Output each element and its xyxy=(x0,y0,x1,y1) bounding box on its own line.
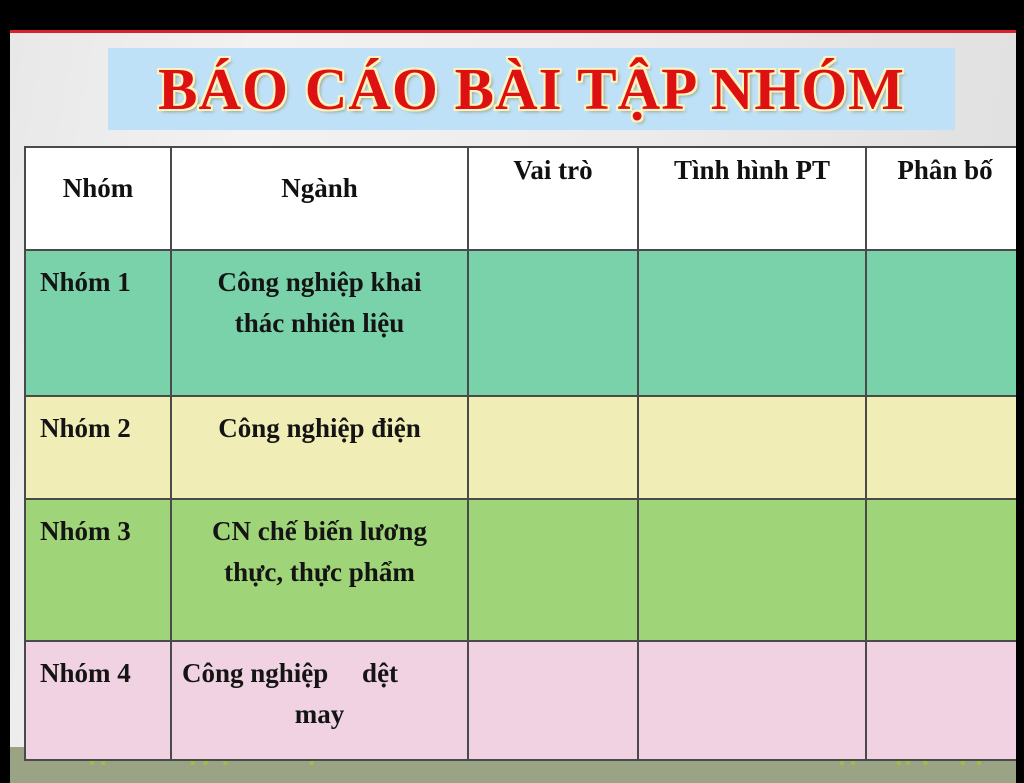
cell-vai-tro[interactable] xyxy=(468,396,638,499)
industry-line-1: CN chế biến lương xyxy=(212,516,427,546)
development-value xyxy=(639,642,865,653)
cell-vai-tro[interactable] xyxy=(468,250,638,396)
assignment-table: Nhóm Ngành Vai trò Tình hình PT Phân bố xyxy=(24,146,1016,761)
cell-phan-bo[interactable] xyxy=(866,499,1016,641)
table-row: Nhóm 2 Công nghiệp điện xyxy=(25,396,1016,499)
cell-nganh: Công nghiệp dệt may xyxy=(171,641,468,760)
industry-line-2: thác nhiên liệu xyxy=(182,303,457,344)
industry-name: Công nghiệp điện xyxy=(172,397,467,449)
development-value xyxy=(639,500,865,511)
column-header-label: Tình hình PT xyxy=(639,148,865,186)
cell-tinh-hinh-pt[interactable] xyxy=(638,641,866,760)
role-value xyxy=(469,500,637,511)
industry-line-1: Công nghiệp khai xyxy=(217,267,421,297)
table-header-row: Nhóm Ngành Vai trò Tình hình PT Phân bố xyxy=(25,147,1016,250)
column-header-tinh-hinh-pt: Tình hình PT xyxy=(638,147,866,250)
cell-phan-bo[interactable] xyxy=(866,250,1016,396)
column-header-vai-tro: Vai trò xyxy=(468,147,638,250)
industry-line-2: thực, thực phẩm xyxy=(182,552,457,593)
distribution-value xyxy=(867,500,1016,511)
column-header-label: Ngành xyxy=(172,148,467,204)
column-header-label: Phân bố xyxy=(867,148,1016,186)
role-value xyxy=(469,397,637,408)
table-row: Nhóm 3 CN chế biến lương thực, thực phẩm xyxy=(25,499,1016,641)
distribution-value xyxy=(867,251,1016,262)
cell-tinh-hinh-pt[interactable] xyxy=(638,250,866,396)
group-name: Nhóm 3 xyxy=(26,500,170,552)
column-header-nhom: Nhóm xyxy=(25,147,171,250)
role-value xyxy=(469,251,637,262)
cell-phan-bo[interactable] xyxy=(866,641,1016,760)
development-value xyxy=(639,251,865,262)
table-row: Nhóm 1 Công nghiệp khai thác nhiên liệu xyxy=(25,250,1016,396)
cell-tinh-hinh-pt[interactable] xyxy=(638,499,866,641)
distribution-value xyxy=(867,642,1016,653)
title-banner: BÁO CÁO BÀI TẬP NHÓM xyxy=(108,48,955,130)
cell-nganh: CN chế biến lương thực, thực phẩm xyxy=(171,499,468,641)
group-name: Nhóm 2 xyxy=(26,397,170,449)
column-header-phan-bo: Phân bố xyxy=(866,147,1016,250)
cell-nhom: Nhóm 1 xyxy=(25,250,171,396)
industry-name: Công nghiệp khai thác nhiên liệu xyxy=(172,251,467,344)
role-value xyxy=(469,642,637,653)
development-value xyxy=(639,397,865,408)
presentation-slide: BÁO CÁO BÀI TẬP NHÓM Nhóm Ngành Vai trò … xyxy=(10,33,1016,783)
industry-line-2: may xyxy=(182,694,457,735)
industry-name: Công nghiệp dệt may xyxy=(172,642,467,735)
cell-nhom: Nhóm 3 xyxy=(25,499,171,641)
column-header-label: Vai trò xyxy=(469,148,637,186)
frame-top xyxy=(0,0,1024,31)
distribution-value xyxy=(867,397,1016,408)
cell-vai-tro[interactable] xyxy=(468,641,638,760)
column-header-label: Nhóm xyxy=(26,148,170,204)
cell-nganh: Công nghiệp điện xyxy=(171,396,468,499)
slide-screen: BÁO CÁO BÀI TẬP NHÓM Nhóm Ngành Vai trò … xyxy=(0,0,1024,783)
industry-line-1: Công nghiệp điện xyxy=(218,413,421,443)
group-name: Nhóm 4 xyxy=(26,642,170,694)
group-name: Nhóm 1 xyxy=(26,251,170,303)
cell-vai-tro[interactable] xyxy=(468,499,638,641)
cell-nhom: Nhóm 2 xyxy=(25,396,171,499)
cell-nganh: Công nghiệp khai thác nhiên liệu xyxy=(171,250,468,396)
cell-phan-bo[interactable] xyxy=(866,396,1016,499)
industry-name: CN chế biến lương thực, thực phẩm xyxy=(172,500,467,593)
industry-line-1: Công nghiệp dệt xyxy=(182,653,457,694)
table-row: Nhóm 4 Công nghiệp dệt may xyxy=(25,641,1016,760)
page-title: BÁO CÁO BÀI TẬP NHÓM xyxy=(158,55,905,124)
frame-left xyxy=(0,0,10,783)
accent-rule xyxy=(10,30,1024,33)
frame-right xyxy=(1016,0,1024,783)
column-header-nganh: Ngành xyxy=(171,147,468,250)
cell-tinh-hinh-pt[interactable] xyxy=(638,396,866,499)
cell-nhom: Nhóm 4 xyxy=(25,641,171,760)
